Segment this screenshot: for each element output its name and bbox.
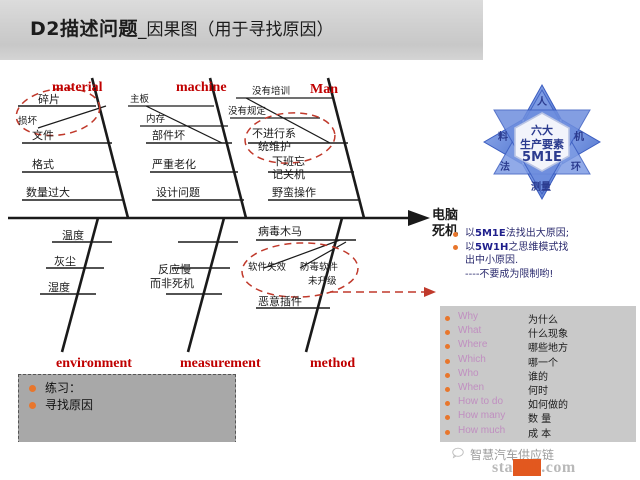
w5h1-row: What什么现象 bbox=[444, 325, 568, 339]
cause-man-3-line1: 不进行系 bbox=[252, 128, 296, 141]
bullet-dot-icon bbox=[453, 232, 458, 237]
bullet-dot-icon bbox=[445, 359, 450, 364]
practice-line-2-text: 寻找原因 bbox=[45, 398, 93, 412]
star-note-1-key: 5M1E bbox=[475, 228, 506, 239]
watermark-part-b: pub bbox=[513, 459, 541, 476]
cause-environment-3: 湿度 bbox=[48, 282, 70, 294]
w5h1-en: When bbox=[458, 382, 528, 393]
page-title-main: D2描述问题 bbox=[30, 18, 138, 40]
cause-machine-5: 设计问题 bbox=[156, 187, 200, 199]
w5h1-row: Where哪些地方 bbox=[444, 339, 568, 353]
cause-man-5: 野蛮操作 bbox=[272, 187, 316, 199]
star-note-1-post: 法找出大原因; bbox=[506, 228, 569, 239]
cause-method-2: 软件失效 bbox=[248, 262, 286, 273]
watermark-part-c: .com bbox=[541, 459, 575, 476]
practice-box: 练习： 寻找原因 bbox=[18, 374, 236, 444]
category-label-man: Man bbox=[310, 82, 338, 98]
star-point-celiang: 测量 bbox=[531, 178, 551, 193]
bullet-dot-icon bbox=[29, 385, 36, 392]
cause-machine-1: 主板 bbox=[130, 94, 149, 105]
page-title-sub: _因果图（用于寻找原因） bbox=[138, 20, 334, 40]
bullet-dot-icon bbox=[445, 415, 450, 420]
w5h1-en: How much bbox=[458, 425, 528, 436]
cause-man-4-line1: 下班忘 bbox=[272, 156, 305, 169]
category-label-measurement: measurement bbox=[180, 356, 261, 372]
practice-line-1: 练习： bbox=[19, 381, 235, 396]
cause-measurement-1-line1: 反应慢 bbox=[158, 264, 191, 277]
bullet-dot-icon bbox=[445, 430, 450, 435]
star-note-2: 以5W1H之思维模式找 bbox=[452, 242, 638, 255]
bullet-dot-icon bbox=[445, 387, 450, 392]
w5h1-row: When何时 bbox=[444, 382, 568, 396]
w5h1-cn: 为什么 bbox=[528, 311, 558, 326]
watermark: stapub.com bbox=[492, 459, 576, 477]
w5h1-en: Which bbox=[458, 354, 528, 365]
star-note-1: 以5M1E法找出大原因; bbox=[452, 228, 638, 241]
cause-man-1: 没有培训 bbox=[252, 86, 290, 97]
bullet-dot-icon bbox=[445, 373, 450, 378]
w5h1-cn: 什么现象 bbox=[528, 325, 568, 340]
star-center-line-3: 5M1E bbox=[478, 150, 606, 165]
category-label-machine: machine bbox=[176, 80, 227, 96]
cause-man-4-line2: 记关机 bbox=[272, 169, 305, 182]
cause-material-3: 文件 bbox=[32, 130, 54, 142]
cause-method-3-line1: 防毒软件 bbox=[300, 262, 338, 275]
cause-man-3-line2: 统维护 bbox=[258, 141, 291, 154]
w5h1-cn: 谁的 bbox=[528, 368, 548, 383]
w5h1-en: Why bbox=[458, 311, 528, 322]
bullet-dot-icon bbox=[445, 316, 450, 321]
cause-man-2: 没有规定 bbox=[228, 106, 266, 117]
cause-material-4: 格式 bbox=[32, 159, 54, 171]
w5h1-list: Why为什么 What什么现象 Where哪些地方 Which哪一个 Who谁的… bbox=[444, 311, 568, 439]
bullet-dot-icon bbox=[453, 245, 458, 250]
w5h1-cn: 如何做的 bbox=[528, 396, 568, 411]
page-title: D2描述问题_因果图（用于寻找原因） bbox=[30, 14, 334, 41]
w5h1-en: How to do bbox=[458, 396, 528, 407]
star-notes: 以5M1E法找出大原因; 以5W1H之思维模式找 出中小原因. ----不要成为… bbox=[452, 228, 638, 281]
w5h1-row: Who谁的 bbox=[444, 368, 568, 382]
effect-line-1: 电脑 bbox=[432, 208, 458, 223]
w5h1-cn: 何时 bbox=[528, 382, 548, 397]
category-label-environment: environment bbox=[56, 356, 132, 372]
category-label-method: method bbox=[310, 356, 355, 372]
wechat-icon bbox=[452, 447, 467, 459]
watermark-part-a: sta bbox=[492, 459, 513, 476]
bullet-dot-icon bbox=[29, 402, 36, 409]
cause-method-4: 恶意插件 bbox=[258, 296, 302, 308]
star-note-2-pre: 以 bbox=[465, 242, 475, 253]
w5h1-row: Why为什么 bbox=[444, 311, 568, 325]
cause-machine-2: 内存 bbox=[146, 114, 165, 125]
cause-machine-4: 严重老化 bbox=[152, 159, 196, 171]
w5h1-row: How much成 本 bbox=[444, 425, 568, 439]
w5h1-en: Who bbox=[458, 368, 528, 379]
w5h1-en: Where bbox=[458, 339, 528, 350]
w5h1-cn: 成 本 bbox=[528, 425, 551, 440]
cause-machine-3: 部件坏 bbox=[152, 130, 185, 142]
w5h1-row: How many数 量 bbox=[444, 410, 568, 424]
footer: 智慧汽车供应链 stapub.com bbox=[0, 442, 640, 480]
cause-environment-2: 灰尘 bbox=[54, 256, 76, 268]
w5h1-row: How to do如何做的 bbox=[444, 396, 568, 410]
cause-measurement-1-line2: 而非死机 bbox=[150, 278, 194, 291]
star-note-1-pre: 以 bbox=[465, 228, 475, 239]
cause-material-2: 损坏 bbox=[18, 116, 37, 127]
cause-method-3-line2: 未升级 bbox=[308, 276, 337, 289]
w5h1-en: What bbox=[458, 325, 528, 336]
practice-line-1-text: 练习： bbox=[45, 381, 81, 395]
w5h1-row: Which哪一个 bbox=[444, 354, 568, 368]
star-point-ren: 人 bbox=[537, 93, 547, 108]
w5h1-panel: Why为什么 What什么现象 Where哪些地方 Which哪一个 Who谁的… bbox=[440, 306, 636, 442]
w5h1-cn: 哪一个 bbox=[528, 354, 558, 369]
star-note-2-continued: 出中小原因. bbox=[452, 255, 638, 268]
cause-method-1: 病毒木马 bbox=[258, 226, 302, 238]
w5h1-en: How many bbox=[458, 410, 528, 421]
w5h1-cn: 数 量 bbox=[528, 410, 551, 425]
cause-environment-1: 温度 bbox=[62, 230, 84, 242]
bullet-dot-icon bbox=[445, 401, 450, 406]
cause-material-1: 碎片 bbox=[38, 94, 60, 106]
w5h1-cn: 哪些地方 bbox=[528, 339, 568, 354]
star-note-dash: ----不要成为限制哟! bbox=[452, 268, 638, 281]
star-diagram-5m1e: 人 机 环 测量 法 料 六大 生产要素 5M1E bbox=[478, 82, 606, 202]
bullet-dot-icon bbox=[445, 344, 450, 349]
star-note-2-post: 之思维模式找 bbox=[508, 242, 568, 253]
cause-material-5: 数量过大 bbox=[26, 187, 70, 199]
bullet-dot-icon bbox=[445, 330, 450, 335]
star-note-2-key: 5W1H bbox=[475, 242, 508, 253]
practice-line-2: 寻找原因 bbox=[19, 398, 235, 413]
